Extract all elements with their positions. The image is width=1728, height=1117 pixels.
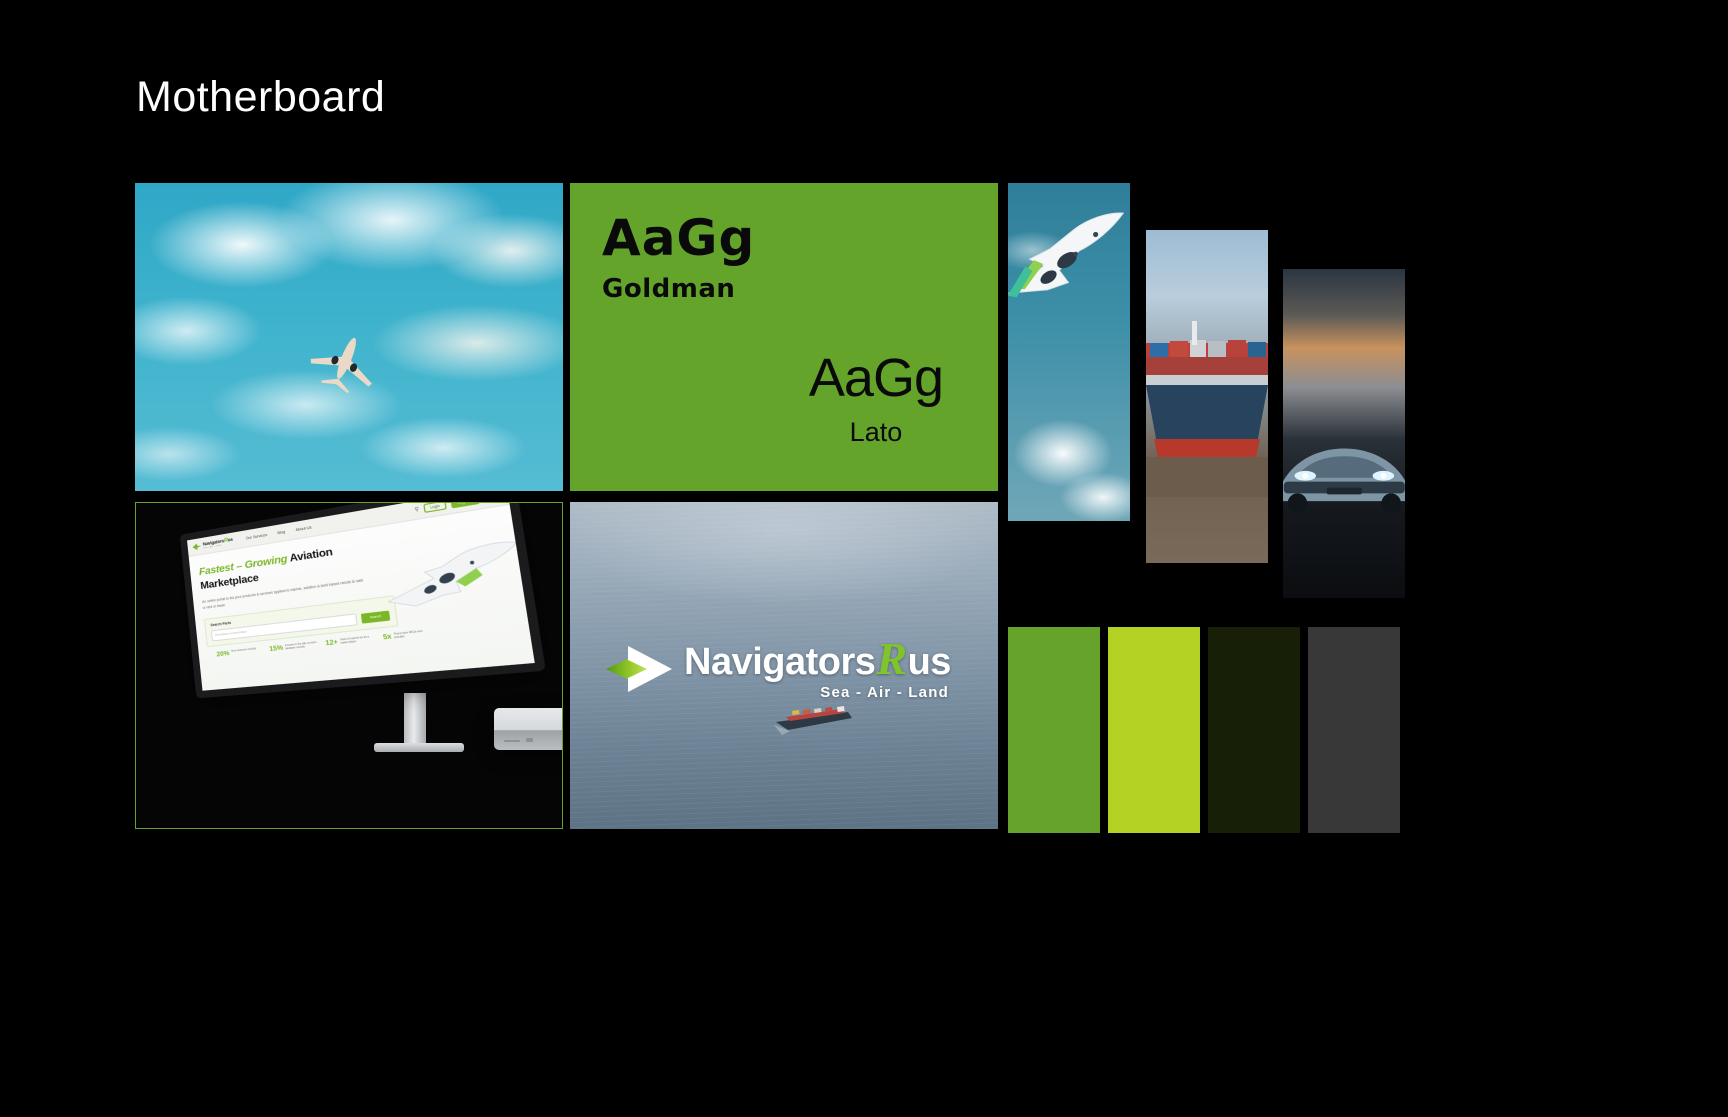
stat-item: 15% Increase in the sale on parts databa… [269,641,318,653]
nav-link-about[interactable]: About Us [295,525,311,532]
stat-value: 12+ [325,639,338,647]
stat-note: New customers monthly [231,647,262,654]
monitor-screen: NavigatorsRus Sea - Air - Land Our Servi… [180,502,546,698]
sports-car-illustration [1283,427,1405,515]
brand-logo-lockup: NavigatorsRus Sea - Air - Land [606,636,951,701]
type-name-goldman: Goldman [602,265,755,314]
stat-item: 20% New customers monthly [216,647,262,659]
photo-takeoff-jet [1008,183,1130,521]
photo-airplane-in-clouds [135,183,563,491]
nav-link-services[interactable]: Our Services [246,533,268,541]
type-specimen-goldman: AaGg Goldman [602,211,755,314]
page-title: Motherboard [136,76,385,119]
stat-value: 5x [383,634,393,642]
jet-illustration [1008,197,1130,317]
login-button[interactable]: Login [423,502,446,513]
type-specimen-lato: AaGg Lato [809,349,943,459]
stat-note: Increase in the sale on parts database m… [285,641,318,652]
photo-sports-car [1283,269,1405,598]
monitor-stand-neck [404,693,426,745]
stat-value: 15% [269,645,284,653]
stat-note: Years of experience as a market player [340,635,376,646]
mockup-logo[interactable]: NavigatorsRus Sea - Air - Land [192,537,233,552]
color-swatch-accent-lime [1108,627,1200,833]
brand-word-accent: R [875,633,907,684]
airplane-icon [297,319,392,404]
stat-item: 5x Times more RFQs sent annually [383,629,432,642]
type-sample-lato: AaGg [809,349,943,407]
brand-word-last: us [908,641,951,683]
type-sample-goldman: AaGg [602,211,755,265]
cargo-ship-illustration [770,698,856,738]
mini-pc-device [494,708,563,750]
monitor-device: NavigatorsRus Sea - Air - Land Our Servi… [136,503,562,828]
search-icon[interactable]: ⚲ [414,506,419,513]
mockup-logo-suffix: us [228,537,233,543]
arrow-logo-icon [606,646,672,692]
arrow-logo-icon [192,543,201,551]
monitor-stand-base [374,743,464,752]
moodboard-canvas: Motherboard AaGg Goldman AaGg Lato [0,0,1728,1117]
brand-logo-text: NavigatorsRus Sea - Air - Land [684,636,951,701]
color-swatch-deep-forest [1208,627,1300,833]
brand-wordmark: NavigatorsRus [684,636,951,682]
stat-note: Times more RFQs sent annually [394,629,432,641]
website-mockup-panel: NavigatorsRus Sea - Air - Land Our Servi… [135,502,563,829]
headline-rest: Aviation [286,546,333,565]
mockup-hero: Fastest – Growing Aviation Marketplace A… [189,505,529,661]
type-name-lato: Lato [809,407,943,458]
mini-pc-port-b [526,738,533,742]
color-swatch-brand-green [1008,627,1100,833]
register-button[interactable]: Register [450,502,479,509]
typography-panel: AaGg Goldman AaGg Lato [570,183,998,491]
stat-value: 20% [216,651,230,659]
photo-ocean-with-logo: NavigatorsRus Sea - Air - Land [570,502,998,829]
brand-tagline: Sea - Air - Land [820,684,949,701]
nav-link-blog[interactable]: Blog [277,530,285,535]
stat-item: 12+ Years of experience as a market play… [325,635,375,648]
mini-pc-port-a [504,740,520,742]
color-swatch-neutral-graphite [1308,627,1400,833]
photo-container-ship [1146,230,1268,563]
container-ship-illustration [1146,317,1268,497]
brand-word-first: Navigators [684,641,875,683]
